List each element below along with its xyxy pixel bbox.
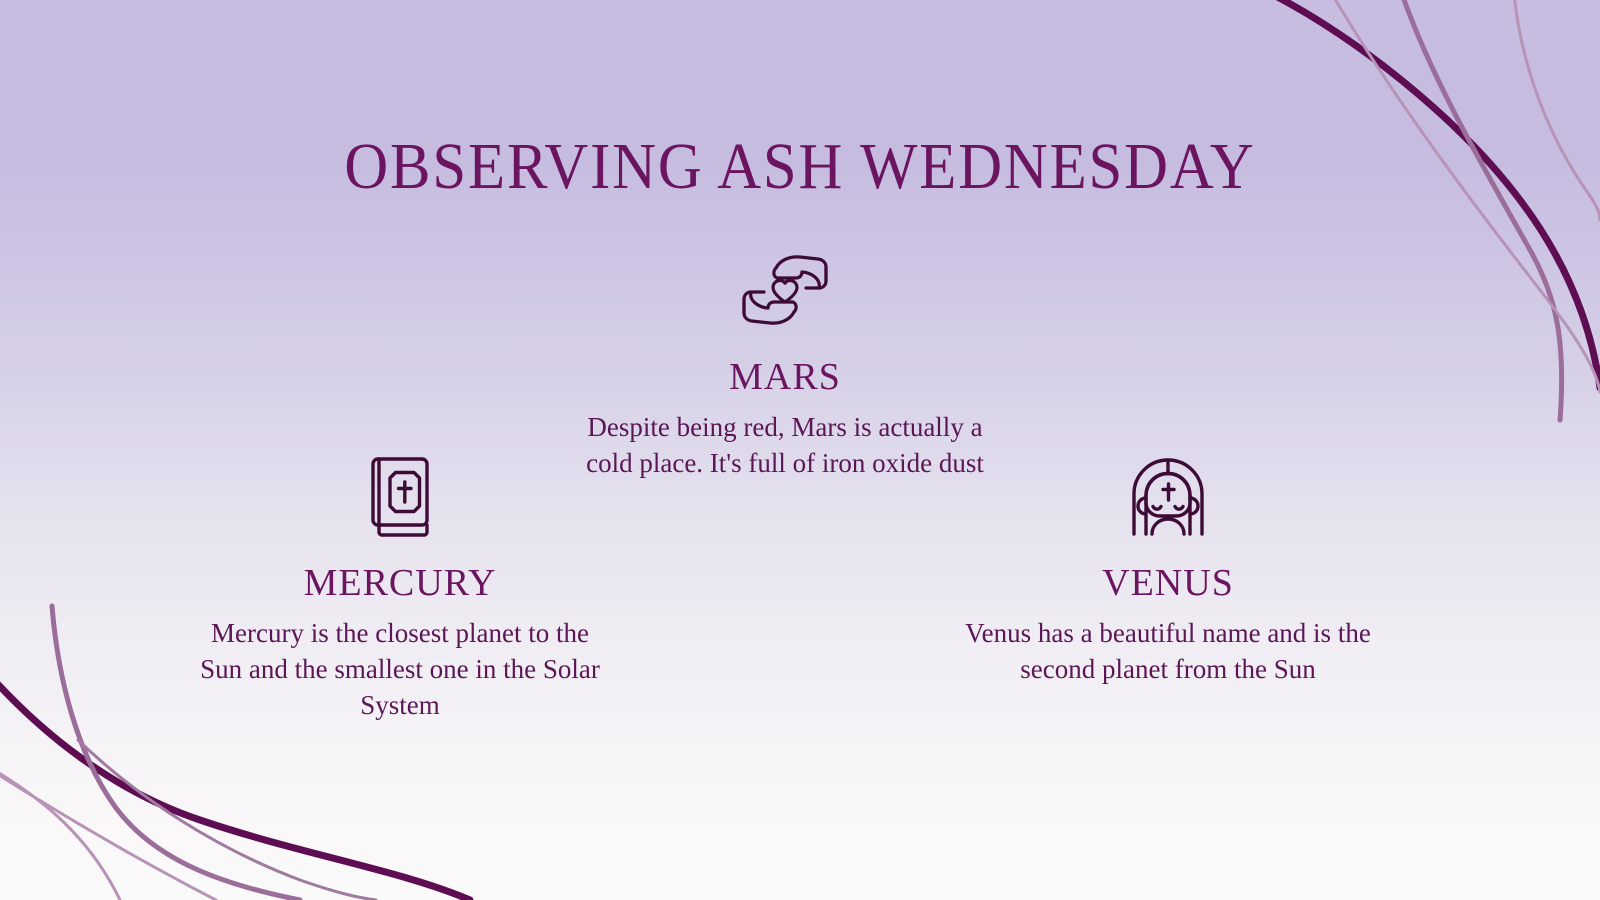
planet-description-mars: Despite being red, Mars is actually a co… — [575, 410, 995, 482]
deco-curve-thin-a-bottom-left — [0, 770, 120, 900]
planet-block-mercury: MERCURY Mercury is the closest planet to… — [180, 442, 620, 724]
icon-wrap-venus — [948, 442, 1388, 538]
planet-block-venus: VENUS Venus has a beautiful name and is … — [948, 442, 1388, 688]
planet-name-mars: MARS — [560, 358, 1010, 396]
deco-curve-thin-b-bottom-left — [0, 772, 216, 900]
icon-wrap-mercury — [180, 442, 620, 538]
deco-curve-medium-top-right — [1402, 0, 1562, 420]
planet-description-venus: Venus has a beautiful name and is the se… — [953, 616, 1383, 688]
bible-book-cross-icon — [365, 454, 435, 538]
praying-person-ash-cross-icon — [1126, 454, 1210, 538]
slide-canvas: OBSERVING ASH WEDNESDAY — [0, 0, 1600, 900]
planet-description-mercury: Mercury is the closest planet to the Sun… — [190, 616, 610, 724]
icon-wrap-mars — [560, 236, 1010, 332]
deco-curve-thin-c-bottom-left — [78, 740, 376, 900]
planet-name-venus: VENUS — [948, 564, 1388, 602]
top-right-curves — [1272, 0, 1600, 420]
planet-block-mars: MARS Despite being red, Mars is actually… — [560, 236, 1010, 482]
hands-holding-heart-icon — [740, 248, 830, 332]
planet-name-mercury: MERCURY — [180, 564, 620, 602]
page-title: OBSERVING ASH WEDNESDAY — [64, 134, 1536, 200]
